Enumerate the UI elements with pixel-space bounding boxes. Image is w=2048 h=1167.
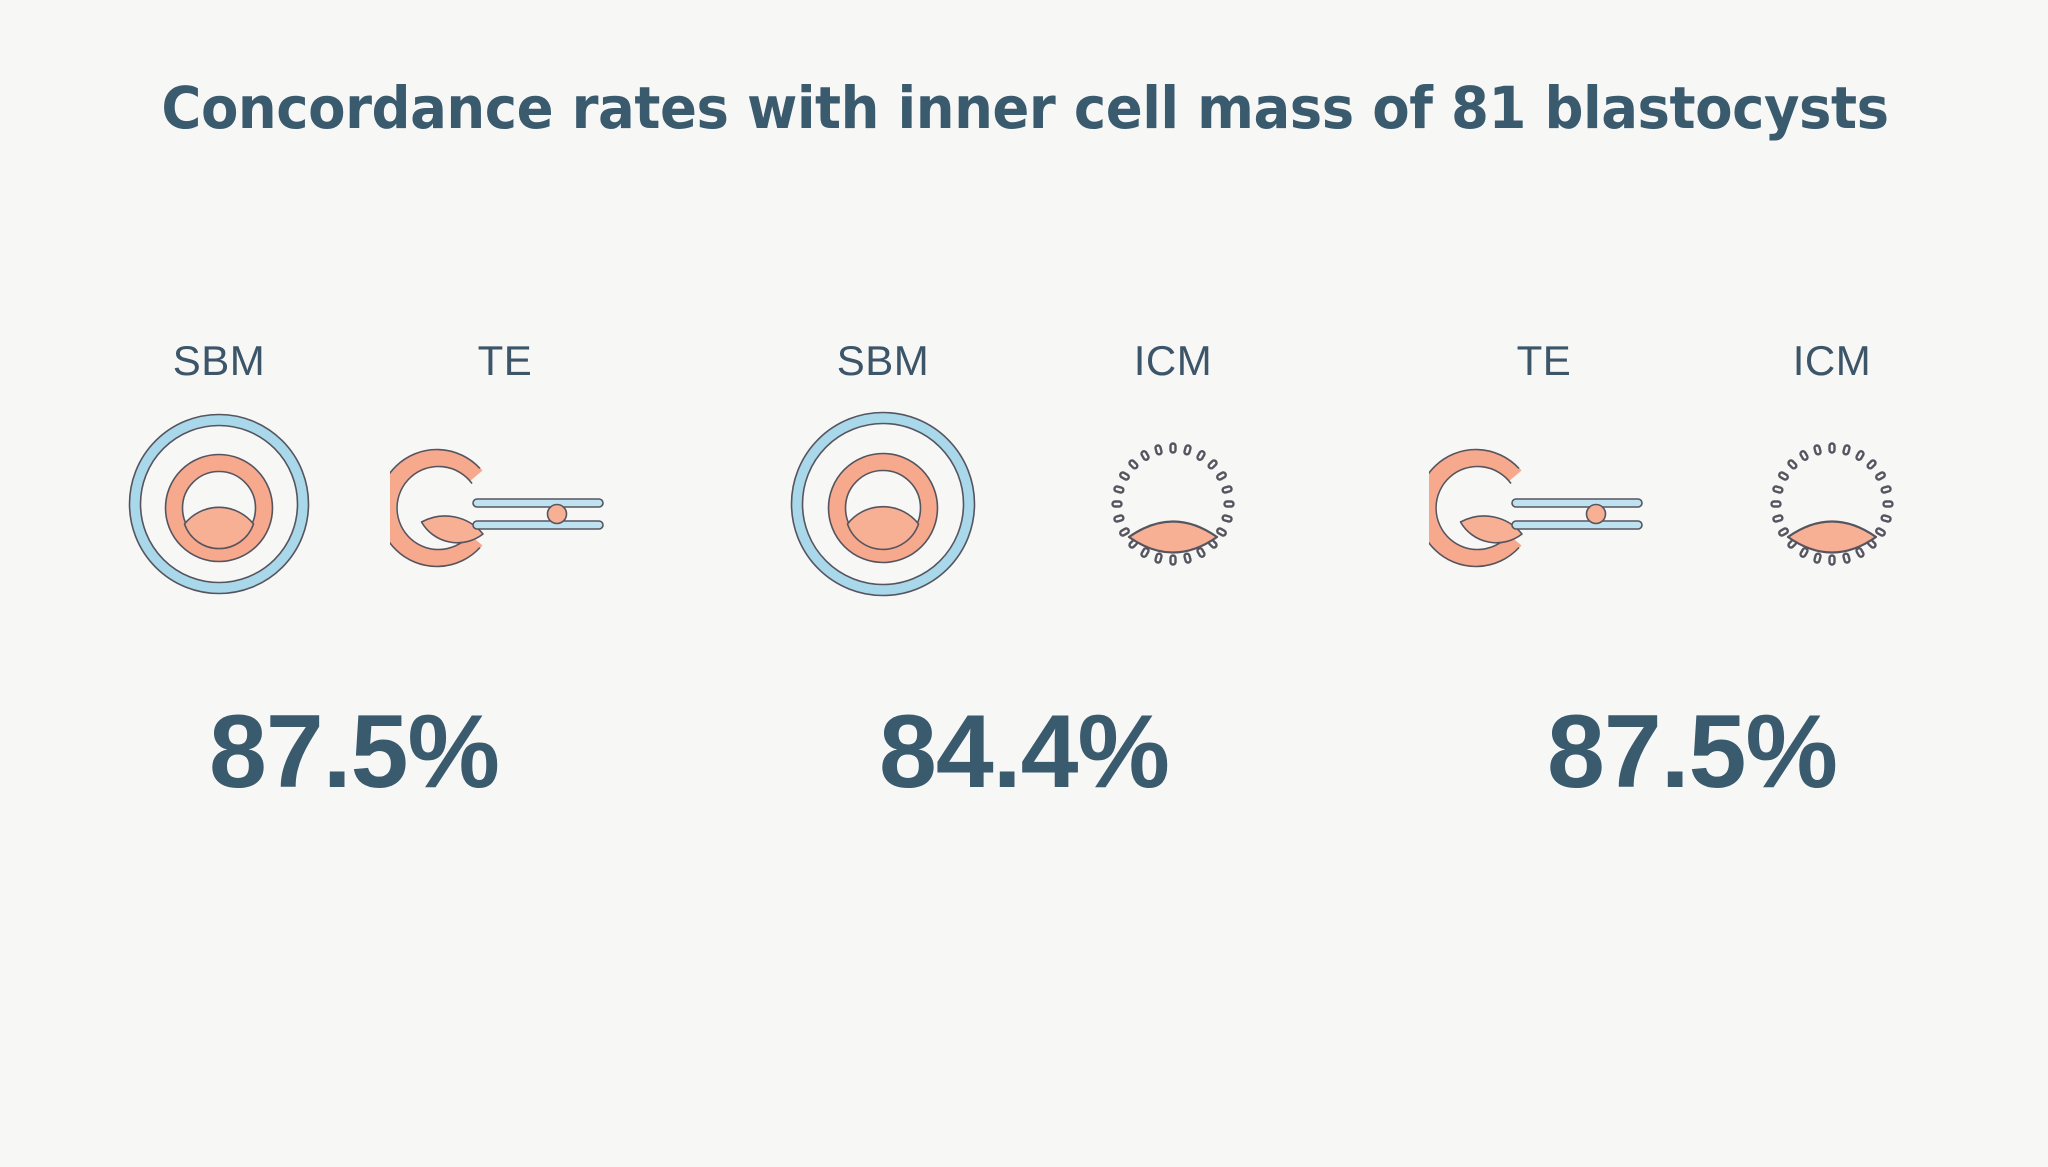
icon-cell-te: TE [380, 340, 630, 604]
icon-label: ICM [1134, 340, 1213, 382]
inner-cell-mass-icon [1732, 404, 1932, 604]
icon-cell-sbm: SBM [758, 340, 1008, 604]
icon-cell-sbm: SBM [94, 340, 344, 604]
icon-label: SBM [837, 340, 930, 382]
icon-pair: SBM [52, 340, 672, 604]
trophectoderm-biopsy-pipette-icon [390, 404, 620, 604]
comparison-groups-row: SBM [0, 340, 2048, 804]
concordance-percentage: 87.5% [209, 700, 499, 804]
comparison-group: SBM [60, 340, 680, 804]
icon-pair: TE ICM [1378, 340, 1998, 604]
icon-label: TE [478, 340, 533, 382]
icon-label: SBM [173, 340, 266, 382]
concordance-percentage: 87.5% [1547, 700, 1837, 804]
icon-label: ICM [1793, 340, 1872, 382]
inner-cell-mass-icon [1073, 404, 1273, 604]
blastocyst-in-zona-icon [119, 404, 319, 604]
page-title: Concordance rates with inner cell mass o… [90, 74, 1961, 142]
comparison-group: SBM ICM [714, 340, 1334, 804]
blastocyst-in-zona-icon [783, 404, 983, 604]
icon-cell-icm: ICM [1048, 340, 1298, 604]
icon-pair: SBM ICM [718, 340, 1338, 604]
concordance-percentage: 84.4% [879, 700, 1169, 804]
icon-cell-te: TE [1419, 340, 1669, 604]
comparison-group: TE ICM [1368, 340, 1988, 804]
icon-cell-icm: ICM [1707, 340, 1957, 604]
icon-label: TE [1517, 340, 1572, 382]
trophectoderm-biopsy-pipette-icon [1429, 404, 1659, 604]
